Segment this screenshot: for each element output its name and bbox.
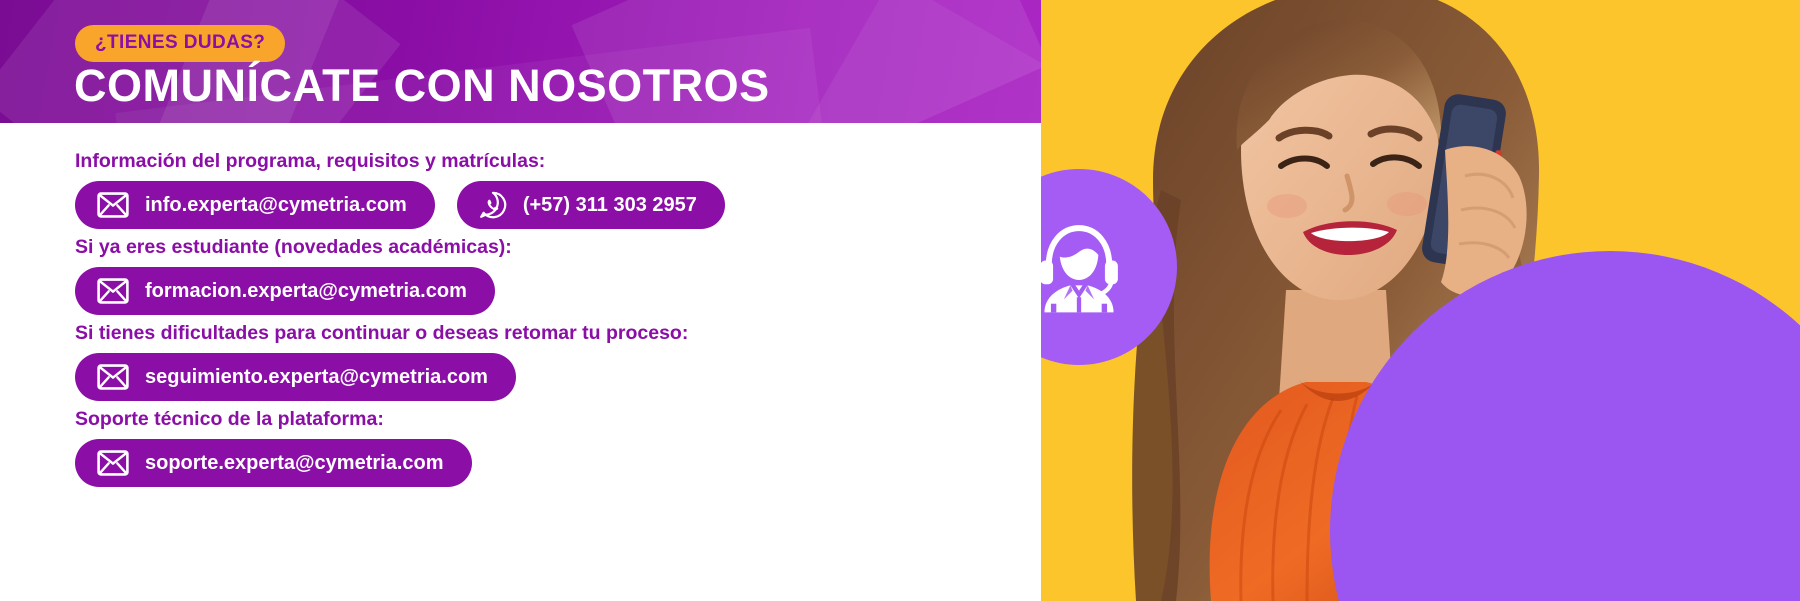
contact-groups-list: Información del programa, requisitos y m…	[0, 123, 1041, 494]
contact-group-2: Si ya eres estudiante (novedades académi…	[0, 236, 1041, 315]
envelope-icon	[97, 450, 129, 476]
headset-agent-icon	[1041, 213, 1133, 321]
whatsapp-icon	[479, 191, 507, 219]
contact-panel: ¿TIENES DUDAS? COMUNÍCATE CON NOSOTROS I…	[0, 0, 1041, 601]
contact-value: seguimiento.experta@cymetria.com	[145, 366, 488, 389]
contact-value: formacion.experta@cymetria.com	[145, 280, 467, 303]
email-pill-button[interactable]: info.experta@cymetria.com	[75, 181, 435, 229]
contact-group-label-1: Información del programa, requisitos y m…	[75, 150, 1041, 173]
email-pill-button[interactable]: formacion.experta@cymetria.com	[75, 267, 495, 315]
phone-pill-button[interactable]: (+57) 311 303 2957	[457, 181, 725, 229]
page-title: COMUNÍCATE CON NOSOTROS	[74, 60, 770, 112]
questions-badge: ¿TIENES DUDAS?	[75, 25, 285, 62]
contact-group-1: Información del programa, requisitos y m…	[0, 150, 1041, 229]
hero-image-panel	[1041, 0, 1800, 601]
contact-group-label-2: Si ya eres estudiante (novedades académi…	[75, 236, 1041, 259]
contact-group-3: Si tienes dificultades para continuar o …	[0, 322, 1041, 401]
contact-pill-row: seguimiento.experta@cymetria.com	[75, 353, 1041, 401]
contact-value: info.experta@cymetria.com	[145, 194, 407, 217]
contact-pill-row: soporte.experta@cymetria.com	[75, 439, 1041, 487]
contact-value: (+57) 311 303 2957	[523, 194, 697, 217]
email-pill-button[interactable]: seguimiento.experta@cymetria.com	[75, 353, 516, 401]
contact-pill-row: info.experta@cymetria.com(+57) 311 303 2…	[75, 181, 1041, 229]
contact-group-4: Soporte técnico de la plataforma: soport…	[0, 408, 1041, 487]
contact-value: soporte.experta@cymetria.com	[145, 452, 444, 475]
contact-group-label-3: Si tienes dificultades para continuar o …	[75, 322, 1041, 345]
contact-group-label-4: Soporte técnico de la plataforma:	[75, 408, 1041, 431]
contact-pill-row: formacion.experta@cymetria.com	[75, 267, 1041, 315]
envelope-icon	[97, 278, 129, 304]
envelope-icon	[97, 192, 129, 218]
email-pill-button[interactable]: soporte.experta@cymetria.com	[75, 439, 472, 487]
envelope-icon	[97, 364, 129, 390]
